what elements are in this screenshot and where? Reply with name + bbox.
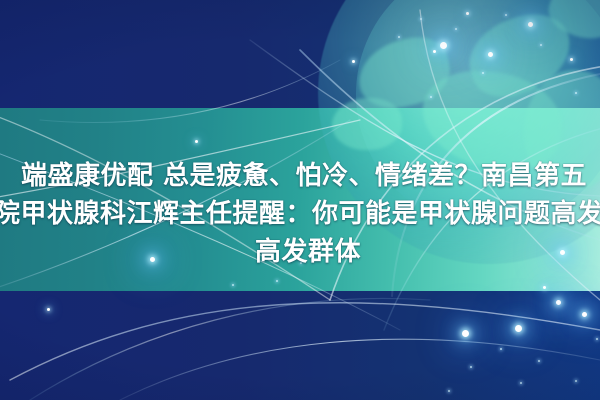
banner-image: 端盛康优配 总是疲惫、怕冷、情绪差？南昌第五 院甲状腺科江辉主任提醒：你可能是甲…: [0, 0, 600, 400]
headline-line-3: 高发群体: [255, 239, 361, 265]
headline-line-1: 端盛康优配 总是疲惫、怕冷、情绪差？南昌第五: [21, 163, 587, 189]
headline-line-2: 院甲状腺科江辉主任提醒：你可能是甲状腺问题高发群: [0, 201, 600, 227]
